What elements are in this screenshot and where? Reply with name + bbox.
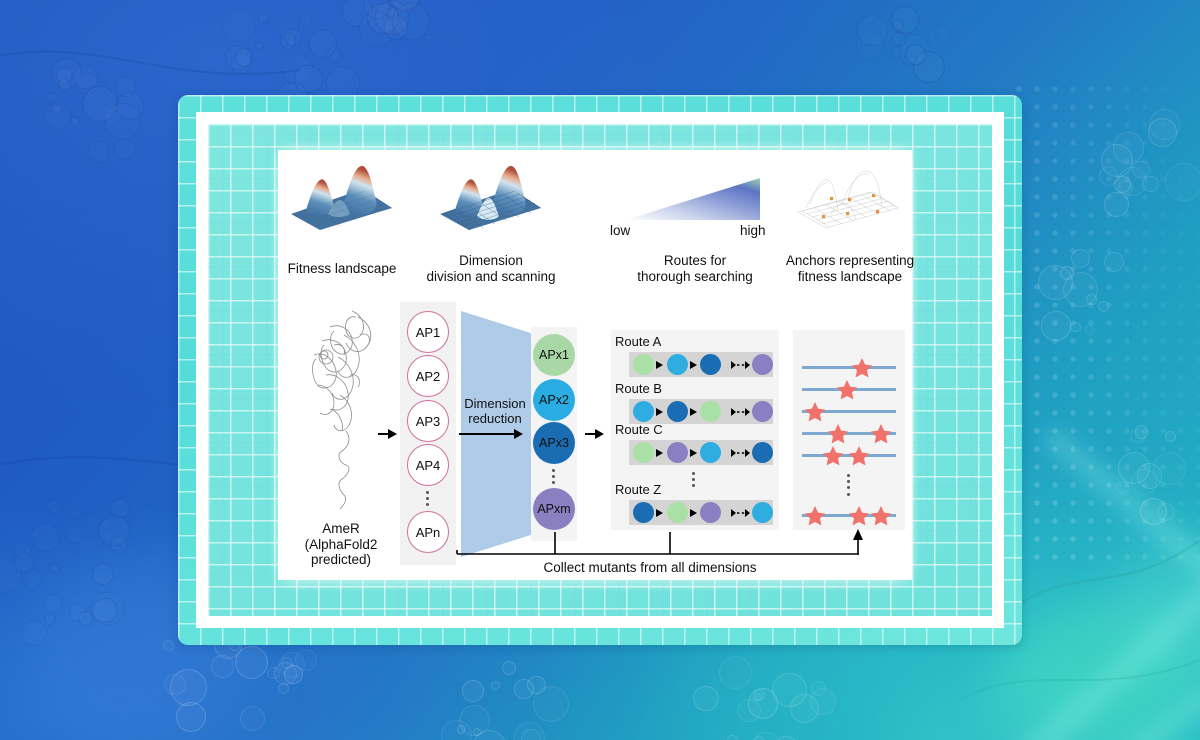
route-node[interactable]: [752, 442, 773, 463]
route-dotted-arrow-icon: [721, 508, 752, 518]
route-arrow-icon: [688, 448, 701, 458]
route-strip[interactable]: [629, 440, 773, 465]
scale-label-low: low: [610, 223, 646, 239]
route-strip[interactable]: [629, 352, 773, 377]
apx-item-label: APx3: [539, 436, 569, 450]
apx-item-m[interactable]: APxm: [533, 488, 575, 530]
fitness-landscape-surface: [288, 162, 396, 234]
anchor-star-icon: [836, 379, 858, 400]
route-dotted-arrow-icon: [721, 407, 752, 417]
arrow-protein-to-ap-head: [388, 429, 397, 439]
ap-column-ellipsis-dots: [426, 491, 429, 506]
route-node[interactable]: [700, 442, 721, 463]
route-arrow-icon: [654, 448, 667, 458]
anchor-star-icon: [870, 423, 892, 444]
caption-anchors-landscape: Anchors representing fitness landscape: [772, 253, 928, 284]
gradient-triangle-legend: [624, 176, 762, 222]
route-node[interactable]: [700, 401, 721, 422]
anchor-star-icon: [822, 445, 844, 466]
route-dotted-arrow-icon: [721, 360, 752, 370]
anchors-mesh-surface: [796, 168, 900, 234]
ap-item-4[interactable]: AP4: [407, 444, 449, 486]
protein-caption: AmeR (AlphaFold2 predicted): [280, 521, 402, 568]
anchor-star-icon: [848, 505, 870, 526]
caption-dimension-division: Dimension division and scanning: [415, 253, 567, 284]
ap-item-label: AP3: [416, 414, 441, 429]
apx-item-3[interactable]: APx3: [533, 422, 575, 464]
route-label: Route A: [615, 334, 661, 349]
route-label: Route C: [615, 422, 663, 437]
apx-item-label: APx2: [539, 393, 569, 407]
dimension-reduction-arrow: [459, 433, 519, 435]
route-node[interactable]: [633, 354, 654, 375]
dimension-reduction-arrow-head: [514, 429, 523, 439]
apx-item-2[interactable]: APx2: [533, 379, 575, 421]
route-node[interactable]: [667, 354, 688, 375]
anchor-star-icon: [804, 505, 826, 526]
route-node[interactable]: [752, 401, 773, 422]
route-node[interactable]: [700, 502, 721, 523]
route-strip[interactable]: [629, 399, 773, 424]
collect-mutants-label: Collect mutants from all dimensions: [430, 560, 870, 575]
collect-mutants-bracket: [455, 528, 865, 556]
route-node[interactable]: [667, 442, 688, 463]
route-node[interactable]: [633, 502, 654, 523]
ap-item-1[interactable]: AP1: [407, 311, 449, 353]
route-node[interactable]: [667, 401, 688, 422]
route-dotted-arrow-icon: [721, 448, 752, 458]
caption-routes-searching: Routes for thorough searching: [620, 253, 770, 284]
anchors-ellipsis-dots: [847, 474, 850, 496]
anchor-star-icon: [804, 401, 826, 422]
anchor-star-icon: [848, 445, 870, 466]
ap-item-label: AP2: [416, 369, 441, 384]
route-strip[interactable]: [629, 500, 773, 525]
ap-item-n[interactable]: APn: [407, 511, 449, 553]
ap-item-2[interactable]: AP2: [407, 355, 449, 397]
route-node[interactable]: [700, 354, 721, 375]
route-node[interactable]: [752, 354, 773, 375]
routes-ellipsis-dots: [692, 472, 695, 487]
dimension-division-surface: [437, 162, 545, 234]
caption-fitness-landscape: Fitness landscape: [272, 261, 412, 277]
route-label: Route Z: [615, 482, 661, 497]
arrow-apx-to-routes-head: [595, 429, 604, 439]
route-node[interactable]: [633, 442, 654, 463]
route-arrow-icon: [688, 407, 701, 417]
anchor-star-icon: [870, 505, 892, 526]
apx-item-label: APx1: [539, 348, 569, 362]
anchor-star-icon: [851, 357, 873, 378]
apx-column-ellipsis-dots: [552, 469, 555, 484]
ap-item-label: AP1: [416, 325, 441, 340]
route-node[interactable]: [752, 502, 773, 523]
ap-item-label: APn: [416, 525, 441, 540]
route-arrow-icon: [654, 508, 667, 518]
route-arrow-icon: [654, 407, 667, 417]
anchor-star-icon: [827, 423, 849, 444]
route-label: Route B: [615, 381, 662, 396]
ap-item-3[interactable]: AP3: [407, 400, 449, 442]
figure-canvas: low high: [0, 0, 1200, 740]
apx-item-label: APxm: [537, 502, 570, 516]
scale-label-high: high: [740, 223, 780, 239]
ap-item-label: AP4: [416, 458, 441, 473]
route-node[interactable]: [667, 502, 688, 523]
route-node[interactable]: [633, 401, 654, 422]
route-arrow-icon: [688, 508, 701, 518]
route-arrow-icon: [688, 360, 701, 370]
route-arrow-icon: [654, 360, 667, 370]
anchor-line: [802, 366, 896, 369]
dimension-reduction-label: Dimension reduction: [455, 396, 535, 426]
apx-item-1[interactable]: APx1: [533, 334, 575, 376]
protein-ribbon-structure: [300, 305, 386, 513]
